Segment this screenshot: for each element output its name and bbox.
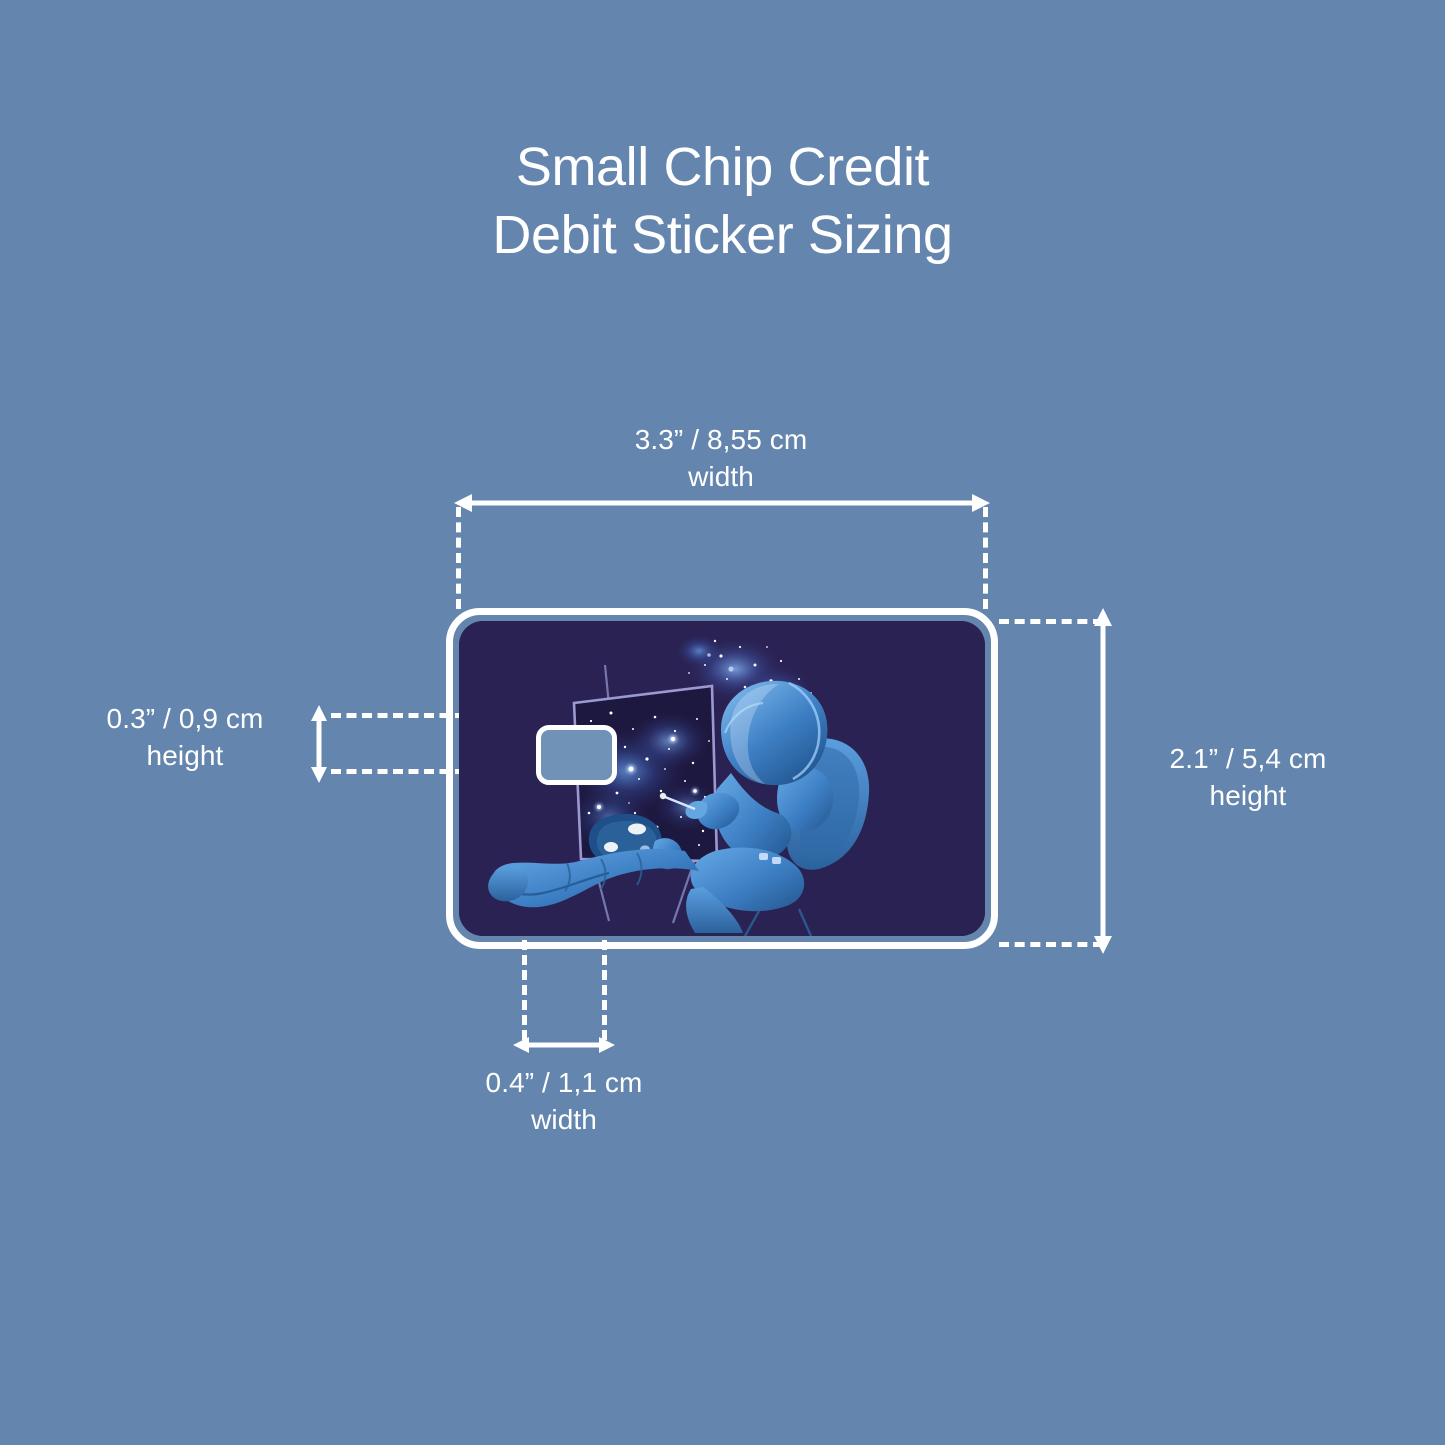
- chip-width-value: 0.4” / 1,1 cm: [486, 1067, 643, 1098]
- card-height-arrow: [1089, 606, 1117, 956]
- card-width-value: 3.3” / 8,55 cm: [635, 424, 808, 455]
- chip-height-arrow: [305, 703, 333, 785]
- label-chip-height: 0.3” / 0,9 cm height: [60, 700, 310, 774]
- card-height-guide-top: [999, 619, 1103, 624]
- card-height-unit: height: [1118, 777, 1378, 814]
- label-chip-width: 0.4” / 1,1 cm width: [434, 1064, 694, 1138]
- sizing-diagram: Small Chip Credit Debit Sticker Sizing 3…: [0, 0, 1445, 1445]
- chip-height-unit: height: [60, 737, 310, 774]
- card-width-guide-left: [456, 507, 461, 609]
- card-chip-cutout[interactable]: [536, 725, 617, 785]
- card-height-value: 2.1” / 5,4 cm: [1170, 743, 1327, 774]
- label-card-height: 2.1” / 5,4 cm height: [1118, 740, 1378, 814]
- label-card-width: 3.3” / 8,55 cm width: [476, 421, 966, 495]
- page-title: Small Chip Credit Debit Sticker Sizing: [0, 133, 1445, 269]
- card-width-guide-right: [983, 507, 988, 609]
- chip-width-arrow: [511, 1031, 617, 1059]
- card-width-arrow: [452, 489, 992, 517]
- chip-height-value: 0.3” / 0,9 cm: [107, 703, 264, 734]
- chip-width-unit: width: [434, 1101, 694, 1138]
- card-face: [459, 621, 985, 936]
- credit-debit-card-sticker[interactable]: [446, 608, 998, 949]
- card-height-guide-bottom: [999, 942, 1103, 947]
